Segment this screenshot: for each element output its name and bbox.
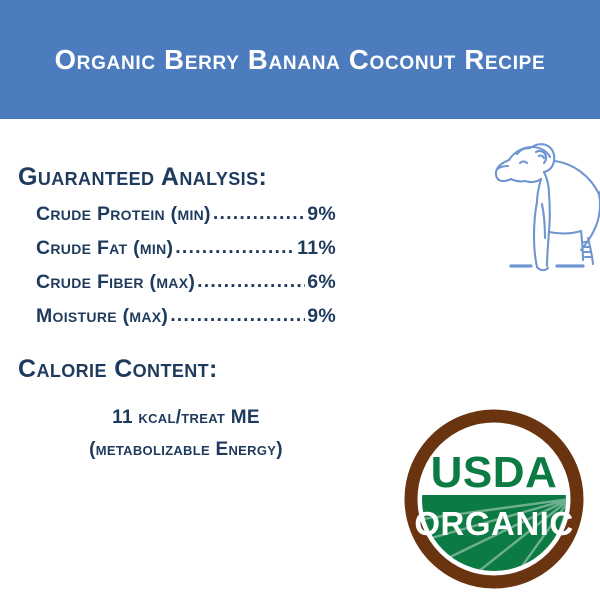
calorie-content-heading: Calorie Content: (18, 355, 218, 384)
guaranteed-analysis-heading: Guaranteed Analysis: (18, 163, 267, 192)
analysis-row: Crude Protein (min) 9% (36, 203, 336, 237)
analysis-label: Crude Protein (min) (36, 203, 211, 226)
guaranteed-analysis-list: Crude Protein (min) 9% Crude Fat (min) 1… (36, 203, 336, 339)
analysis-label: Moisture (max) (36, 305, 168, 328)
calorie-note-line: (metabolizable Energy) (36, 434, 336, 466)
analysis-label: Crude Fat (min) (36, 237, 173, 260)
leader-dots (170, 304, 305, 327)
analysis-row: Crude Fat (min) 11% (36, 237, 336, 271)
analysis-row: Crude Fiber (max) 6% (36, 271, 336, 305)
leader-dots (213, 202, 305, 225)
pet-treat-label-card: Organic Berry Banana Coconut Recipe Guar… (0, 0, 600, 600)
usda-organic-seal-icon: USDA ORGANIC (402, 407, 586, 591)
leader-dots (175, 236, 295, 259)
analysis-value: 9% (307, 203, 336, 226)
calorie-value-line: 11 kcal/treat ME (36, 402, 336, 434)
usda-seal-bottom-text: ORGANIC (414, 505, 573, 542)
usda-seal-top-text: USDA (431, 448, 558, 497)
leader-dots (197, 270, 305, 293)
analysis-value: 9% (307, 305, 336, 328)
dog-line-art-icon (487, 134, 600, 276)
calorie-content-lines: 11 kcal/treat ME (metabolizable Energy) (36, 402, 336, 466)
page-title: Organic Berry Banana Coconut Recipe (49, 44, 552, 76)
analysis-value: 6% (307, 271, 336, 294)
analysis-value: 11% (297, 237, 336, 260)
analysis-label: Crude Fiber (max) (36, 271, 195, 294)
analysis-row: Moisture (max) 9% (36, 305, 336, 339)
header-band: Organic Berry Banana Coconut Recipe (0, 0, 600, 119)
